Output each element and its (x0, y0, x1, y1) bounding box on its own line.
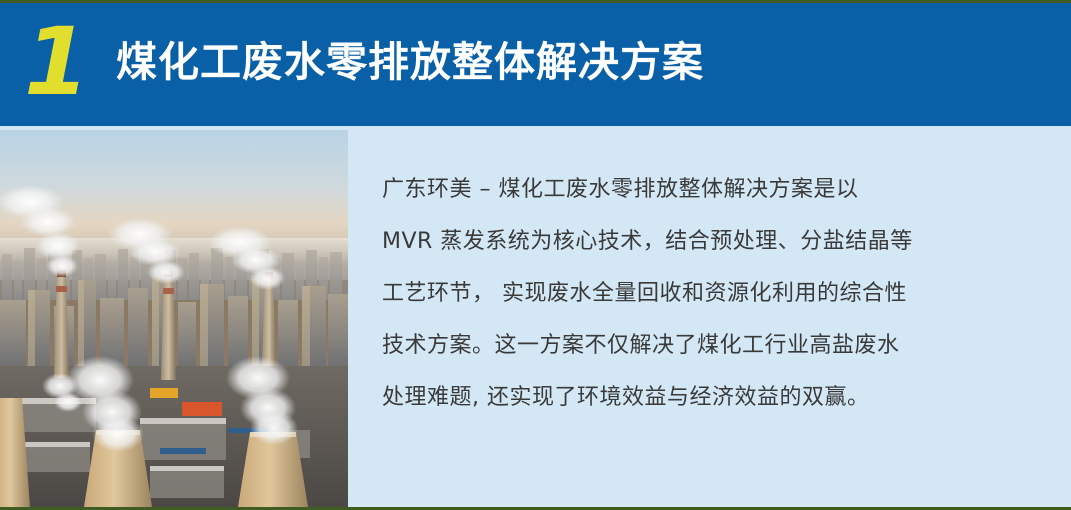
blue-pipe-run (160, 448, 206, 454)
description-paragraph: 广东环美 – 煤化工废水零排放整体解决方案是以 MVR 蒸发系统为核心技术，结合… (382, 164, 1000, 424)
yellow-plant-unit (150, 388, 178, 398)
orange-plant-unit (182, 402, 222, 416)
industrial-plant-photo (0, 130, 348, 507)
slide-canvas: 1 煤化工废水零排放整体解决方案 (0, 0, 1071, 510)
photo-illustration (0, 130, 348, 507)
top-edge-rule (0, 0, 1071, 3)
section-number-badge: 1 (24, 16, 96, 110)
page-title: 煤化工废水零排放整体解决方案 (116, 34, 704, 90)
